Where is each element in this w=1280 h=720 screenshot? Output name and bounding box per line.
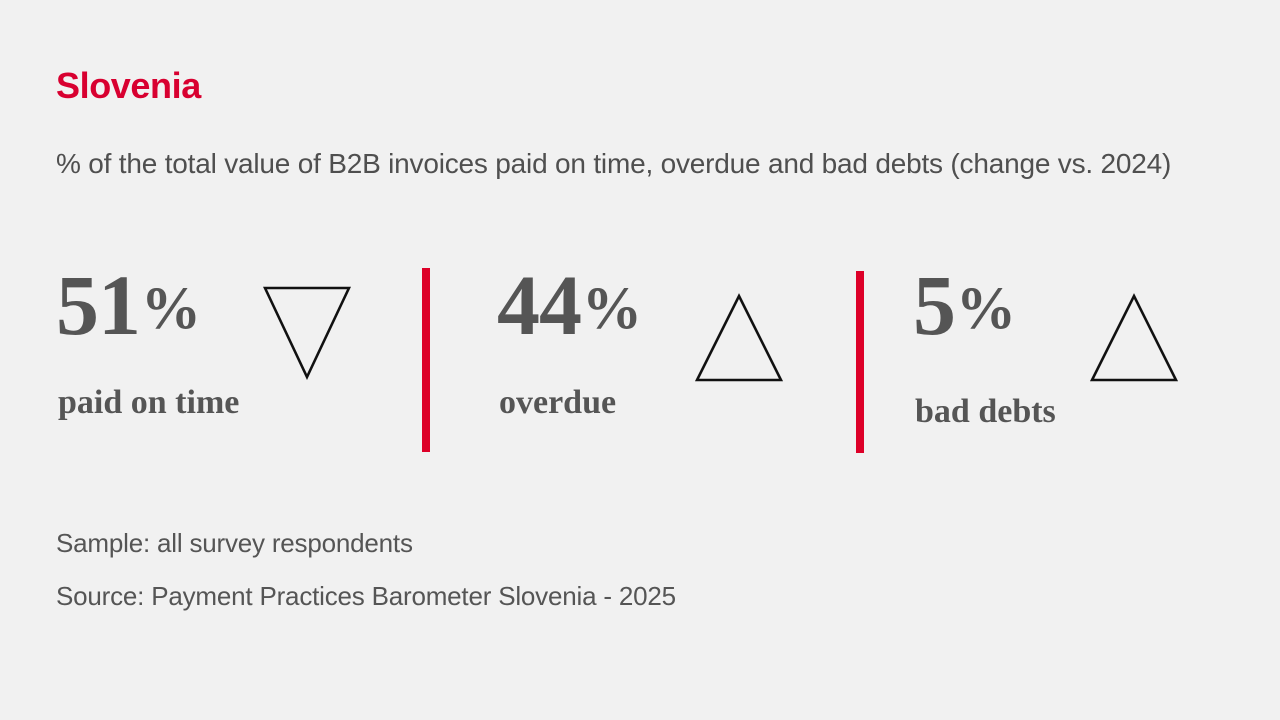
metric-value: 51 % <box>56 262 200 348</box>
triangle-up-icon <box>695 293 783 383</box>
metric-value-row: 44 % <box>497 262 641 348</box>
metric-value: 5 % <box>913 262 1015 348</box>
metric-number: 5 <box>913 262 955 348</box>
metric-number: 44 <box>497 262 581 348</box>
metric-value-row: 51 % <box>56 262 200 348</box>
footnotes: Sample: all survey respondents Source: P… <box>56 530 676 609</box>
percent-symbol: % <box>956 278 1015 338</box>
metric-overdue: 44 % overdue <box>497 262 842 462</box>
metric-value-row: 5 % <box>913 262 1015 348</box>
source-note: Source: Payment Practices Barometer Slov… <box>56 583 676 609</box>
metric-value: 44 % <box>497 262 641 348</box>
triangle-up-icon <box>1090 293 1178 383</box>
metric-bad-debts: 5 % bad debts <box>913 262 1213 462</box>
metric-label: overdue <box>499 386 616 420</box>
triangle-down-icon <box>263 285 351 380</box>
percent-symbol: % <box>582 278 641 338</box>
section-divider-1 <box>422 268 430 452</box>
metric-number: 51 <box>56 262 140 348</box>
page-title: Slovenia <box>56 68 201 104</box>
chart-subtitle: % of the total value of B2B invoices pai… <box>56 145 1216 183</box>
metric-label: paid on time <box>58 386 239 420</box>
section-divider-2 <box>856 271 864 453</box>
metrics-row: 51 % paid on time 44 % <box>0 262 1280 462</box>
sample-note: Sample: all survey respondents <box>56 530 676 556</box>
infographic-canvas: Slovenia % of the total value of B2B inv… <box>0 0 1280 720</box>
percent-symbol: % <box>141 278 200 338</box>
metric-paid-on-time: 51 % paid on time <box>56 262 406 462</box>
metric-label: bad debts <box>915 395 1056 429</box>
